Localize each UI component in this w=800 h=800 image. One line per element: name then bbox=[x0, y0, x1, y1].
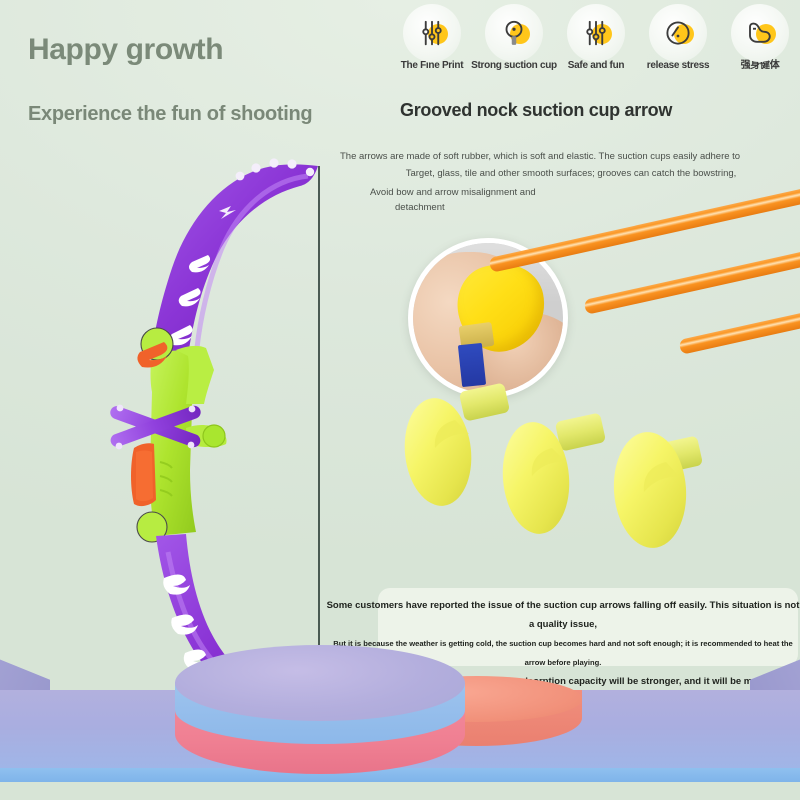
description-line: Avoid bow and arrow misalignment and bbox=[340, 184, 800, 201]
description-line: detachment bbox=[340, 201, 800, 214]
badge-disc bbox=[731, 4, 789, 62]
blue-shaft-shape bbox=[457, 342, 485, 386]
feature-badge-strengthen-body[interactable]: 强身健体 bbox=[720, 4, 800, 82]
sliders-icon bbox=[581, 18, 611, 48]
suction-cup-closeup-photo bbox=[408, 238, 568, 398]
page-subtitle: Experience the fun of shooting bbox=[28, 103, 312, 126]
product-marketing-banner: The Fine Print Strong suction cup bbox=[0, 0, 800, 800]
page-title: Happy growth bbox=[28, 33, 223, 67]
bowstring bbox=[318, 166, 320, 716]
feature-badge-release-stress[interactable]: release stress bbox=[638, 4, 718, 82]
suction-cup-icon bbox=[499, 18, 529, 48]
feature-badge-row: The Fine Print Strong suction cup bbox=[392, 4, 800, 82]
description-line: Target, glass, tile and other smooth sur… bbox=[340, 164, 800, 184]
feature-badge-strong-suction-cup[interactable]: Strong suction cup bbox=[474, 4, 554, 82]
sliders-icon bbox=[417, 18, 447, 48]
product-description: The arrows are made of soft rubber, whic… bbox=[340, 150, 800, 214]
main-podium-top bbox=[175, 645, 465, 721]
disclaimer-line: Some customers have reported the issue o… bbox=[324, 596, 800, 634]
bicep-icon bbox=[745, 18, 775, 48]
badge-disc bbox=[567, 4, 625, 62]
feature-badge-safe-and-fun[interactable]: Safe and fun bbox=[556, 4, 636, 82]
floor-front-edge bbox=[0, 768, 800, 782]
badge-disc bbox=[403, 4, 461, 62]
feature-badge-the-fine-print[interactable]: The Fine Print bbox=[392, 4, 472, 82]
description-line: The arrows are made of soft rubber, whic… bbox=[340, 150, 800, 164]
badge-disc bbox=[649, 4, 707, 62]
podium-scene bbox=[0, 640, 800, 800]
gauge-icon bbox=[663, 18, 693, 48]
product-feature-title: Grooved nock suction cup arrow bbox=[400, 100, 800, 121]
badge-disc bbox=[485, 4, 543, 62]
